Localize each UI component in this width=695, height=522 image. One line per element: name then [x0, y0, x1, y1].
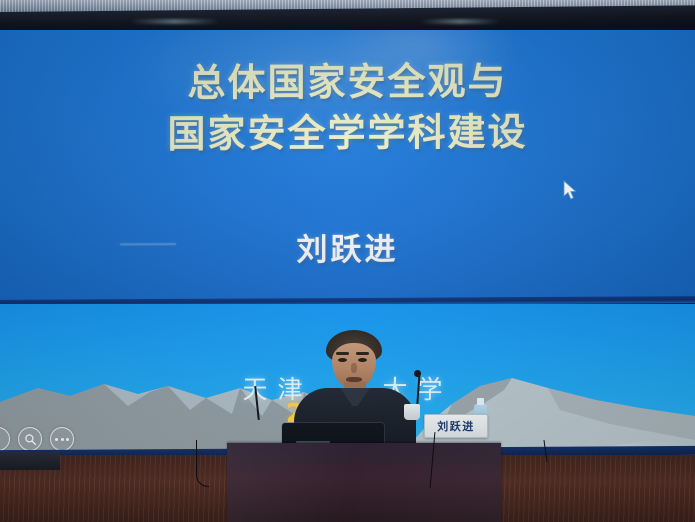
- more-icon[interactable]: [50, 427, 74, 451]
- speaker-brow-right: [356, 352, 369, 355]
- speaker-brow-left: [336, 352, 349, 355]
- overlay-controls[interactable]: [0, 427, 74, 451]
- podium: [227, 443, 501, 522]
- bottle-cap: [477, 398, 484, 405]
- cable-left: [196, 440, 209, 487]
- stage-speaker-box: [0, 452, 60, 470]
- speaker-eye-right: [358, 358, 367, 362]
- ellipsis-dots: [55, 438, 68, 441]
- projected-slide: 总体国家安全观与 国家安全学学科建设 刘跃进: [0, 30, 695, 302]
- circle-icon[interactable]: [0, 427, 10, 451]
- search-icon[interactable]: [18, 427, 42, 451]
- screenshot-root: 总体国家安全观与 国家安全学学科建设 刘跃进 天津 大学 2 5: [0, 0, 695, 522]
- speaker-eye-left: [338, 358, 347, 362]
- cup: [404, 404, 420, 420]
- speaker-nose: [351, 363, 357, 373]
- pointer-cursor: [563, 180, 579, 202]
- bezel-glint-left: [130, 19, 220, 24]
- podium-sheen: [227, 443, 501, 522]
- slide-vignette: [0, 30, 695, 302]
- desk-nameplate-text: 刘跃进: [437, 418, 475, 434]
- bezel-glint-right: [420, 19, 500, 24]
